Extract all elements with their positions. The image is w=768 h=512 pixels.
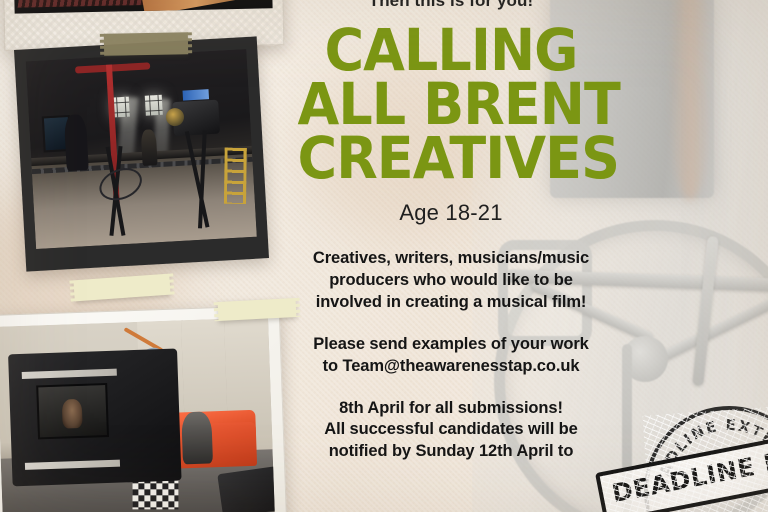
page-title: CALLING ALL BRENT CREATIVES (298, 24, 605, 186)
poster-canvas: Then this is for you! CALLING ALL BRENT … (0, 0, 768, 512)
para1-line-3: involved in creating a musical film! (286, 292, 616, 314)
photo-image-middle (26, 49, 257, 249)
para1-line-2: producers who would like to be (286, 270, 616, 292)
photo-card-bottom (0, 305, 288, 512)
step-ladder (224, 147, 247, 203)
secondary-camera (217, 466, 275, 512)
poster-text-column: Then this is for you! CALLING ALL BRENT … (286, 0, 616, 463)
mixing-desk-keys (18, 0, 155, 8)
washi-tape-olive (104, 32, 188, 55)
monitor-strip-bottom (25, 460, 120, 470)
deadline-paragraph: 8th April for all submissions! All succe… (286, 398, 616, 464)
para3-line-2: All successful candidates will be (286, 419, 616, 441)
blue-panel-light (183, 89, 210, 100)
photo-image-bottom (0, 317, 275, 512)
washi-tape-cream-right (218, 298, 297, 321)
para3-line-1: 8th April for all submissions! (286, 398, 616, 420)
on-screen-subject (61, 399, 82, 429)
monitor-housing (8, 349, 181, 487)
contact-email[interactable]: to Team@theawarenesstap.co.uk (286, 356, 616, 378)
set-window-right (145, 95, 163, 116)
para2-line-1: Please send examples of your work (286, 334, 616, 356)
monitor-strip-top (22, 369, 117, 379)
seated-crew-member (181, 411, 213, 464)
pretitle-text: Then this is for you! (286, 0, 616, 11)
headline-line-3: CREATIVES (298, 132, 605, 186)
who-can-apply-paragraph: Creatives, writers, musicians/music prod… (286, 248, 616, 314)
para1-line-1: Creatives, writers, musicians/music (286, 248, 616, 270)
submission-contact-paragraph: Please send examples of your work to Tea… (286, 334, 616, 378)
para3-line-3: notified by Sunday 12th April to (286, 441, 616, 463)
age-requirement: Age 18-21 (286, 200, 616, 226)
photo-card-middle (14, 36, 269, 271)
camera-lens-icon (165, 107, 184, 126)
monitor-screen (36, 383, 109, 440)
actor-background (140, 129, 157, 166)
set-window-left (112, 97, 130, 118)
